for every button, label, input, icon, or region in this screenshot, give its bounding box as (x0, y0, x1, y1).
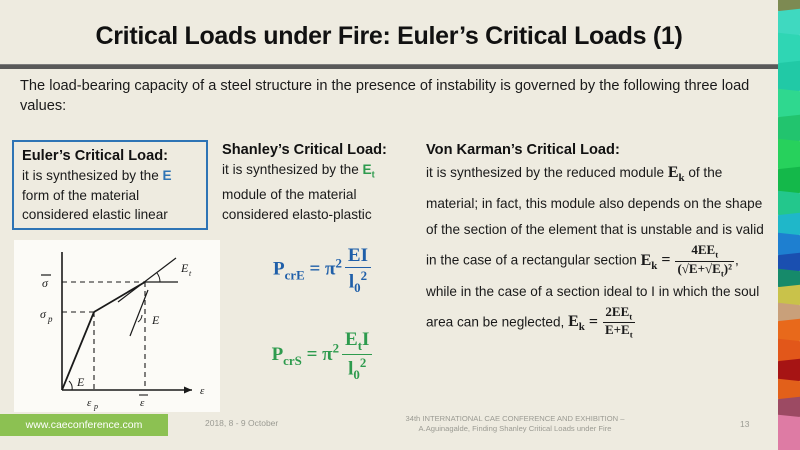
figure-tick-eps-p: ε (87, 397, 92, 409)
svg-text:p: p (93, 402, 98, 411)
footer-conference-line1: 34th INTERNATIONAL CAE CONFERENCE AND EX… (370, 414, 660, 424)
euler-heading: Euler’s Critical Load: (22, 148, 198, 164)
shanley-critical-load-column: Shanley’s Critical Load: it is synthesiz… (222, 142, 418, 224)
von-karman-critical-load-column: Von Karman’s Critical Load: it is synthe… (426, 142, 766, 340)
vk-equals-1: = (657, 252, 674, 269)
slide-footer: www.caeconference.com 2018, 8 - 9 Octobe… (0, 412, 778, 450)
title-divider (0, 64, 778, 69)
decorative-mosaic-strip (778, 0, 800, 450)
figure-tick-eps-bar: ε (140, 397, 145, 409)
footer-website-badge[interactable]: www.caeconference.com (0, 414, 168, 436)
euler-body-pre: it is synthesized by the (22, 168, 163, 183)
figure-label-Et: E (180, 261, 189, 275)
stress-strain-svg: σ σ p ε p ε ε E t E E (14, 240, 220, 412)
euler-body-post: form of the material considered elastic … (22, 188, 168, 223)
shanley-body-post: module of the material considered elasto… (222, 187, 372, 222)
page-title: Critical Loads under Fire: Euler’s Criti… (0, 22, 778, 51)
euler-symbol-E: E (163, 168, 172, 183)
euler-critical-load-box: Euler’s Critical Load: it is synthesized… (12, 140, 208, 230)
title-block: Critical Loads under Fire: Euler’s Criti… (0, 0, 778, 66)
shanley-body-pre: it is synthesized by the (222, 162, 363, 177)
vk-equals-2: = (585, 313, 602, 330)
critical-load-formulas: PcrE = π2EIl02 PcrS = π2EtIl02 (222, 245, 422, 383)
formula-euler-critical-load: PcrE = π2EIl02 (222, 245, 422, 295)
vk-formula-ideal-i-section: 2EEtE+Et (603, 305, 635, 341)
shanley-heading: Shanley’s Critical Load: (222, 142, 418, 158)
svg-text:p: p (47, 314, 53, 324)
von-karman-body: it is synthesized by the reduced module … (426, 160, 766, 340)
figure-label-E-elastic: E (76, 375, 85, 389)
formula-shanley-critical-load: PcrS = π2EtIl02 (222, 329, 422, 382)
footer-conference-line2: A.Aguinagalde, Finding Shanley Critical … (370, 424, 660, 434)
intro-paragraph: The load-bearing capacity of a steel str… (20, 76, 760, 116)
shanley-symbol-Et: Et (363, 162, 375, 177)
vk-symbol-Ek-3: Ek (568, 313, 585, 330)
mosaic-tile (778, 414, 800, 450)
vk-symbol-Ek-2: Ek (641, 252, 658, 269)
footer-page-number: 13 (740, 419, 749, 429)
vk-symbol-Ek-1: Ek (668, 164, 685, 181)
vk-formula-rectangular: 4EEt(√E+√Et)² (675, 243, 734, 279)
presentation-slide: Critical Loads under Fire: Euler’s Criti… (0, 0, 800, 450)
euler-body: it is synthesized by the E form of the m… (22, 166, 198, 225)
von-karman-heading: Von Karman’s Critical Load: (426, 142, 766, 158)
footer-date: 2018, 8 - 9 October (205, 418, 278, 428)
figure-label-E-unload: E (151, 313, 160, 327)
footer-conference-info: 34th INTERNATIONAL CAE CONFERENCE AND EX… (370, 414, 660, 434)
figure-axis-x-label: ε (200, 385, 205, 397)
shanley-body: it is synthesized by the Et module of th… (222, 160, 418, 224)
stress-strain-diagram: σ σ p ε p ε ε E t E E (14, 240, 220, 412)
vk-line1-pre: it is synthesized by the reduced module (426, 165, 668, 180)
